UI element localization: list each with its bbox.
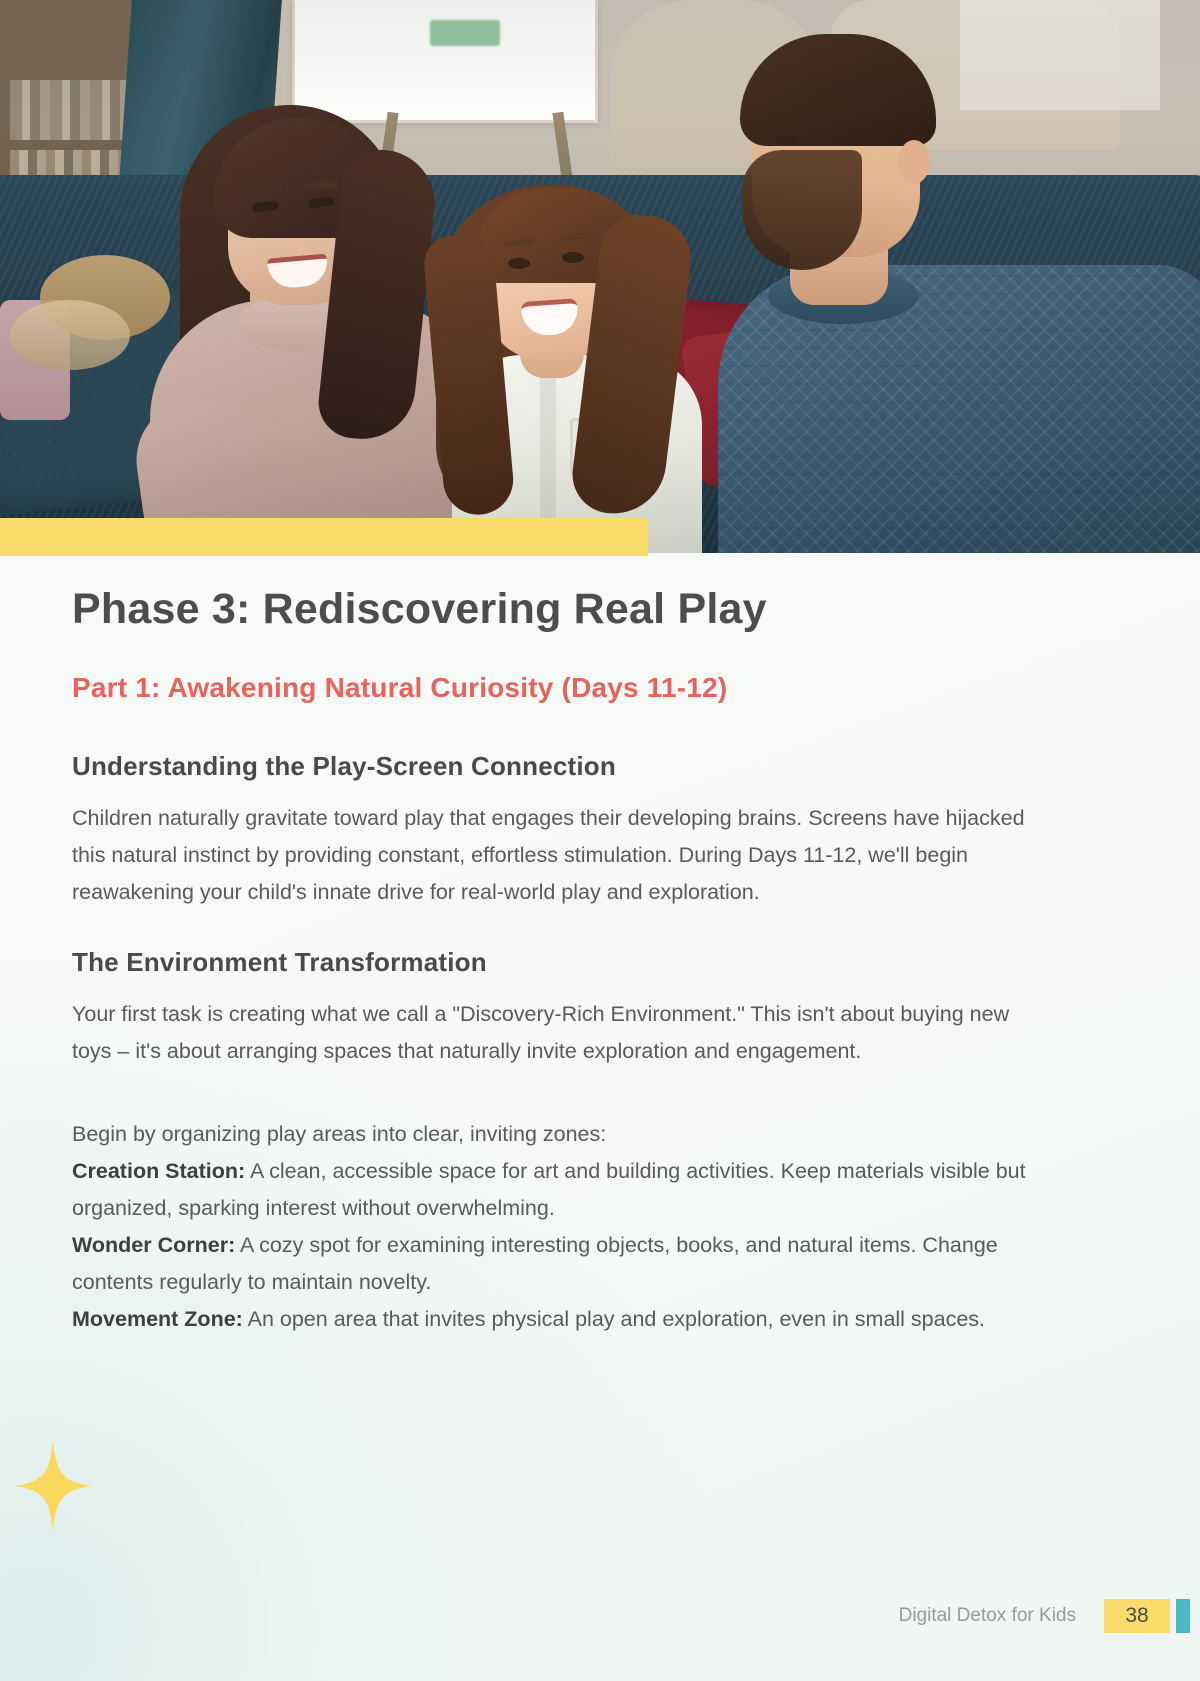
footer-teal-tab	[1176, 1599, 1190, 1633]
zone-label-wonder-corner: Wonder Corner:	[72, 1233, 235, 1257]
part-title: Part 1: Awakening Natural Curiosity (Day…	[72, 671, 1052, 705]
page-root: Phase 3: Rediscovering Real Play Part 1:…	[0, 0, 1200, 1681]
zone-item-movement-zone: Movement Zone: An open area that invites…	[72, 1301, 1052, 1338]
section-body-environment: Your first task is creating what we call…	[72, 996, 1052, 1070]
page-number-badge: 38	[1104, 1599, 1170, 1633]
zones-intro: Begin by organizing play areas into clea…	[72, 1116, 1052, 1153]
zone-item-wonder-corner: Wonder Corner: A cozy spot for examining…	[72, 1227, 1052, 1301]
paragraph-spacer	[72, 1070, 1052, 1116]
hero-vignette	[0, 0, 1200, 553]
section-heading-environment: The Environment Transformation	[72, 947, 1052, 978]
section-heading-understanding: Understanding the Play-Screen Connection	[72, 751, 1052, 782]
sparkle-icon	[14, 1440, 92, 1532]
page-title: Phase 3: Rediscovering Real Play	[72, 586, 1052, 633]
zone-label-creation-station: Creation Station:	[72, 1159, 245, 1183]
hero-scene	[0, 0, 1200, 553]
yellow-accent-bar	[0, 518, 648, 556]
zone-text-movement-zone: An open area that invites physical play …	[243, 1307, 985, 1331]
zone-list: Begin by organizing play areas into clea…	[72, 1116, 1052, 1338]
zone-item-creation-station: Creation Station: A clean, accessible sp…	[72, 1153, 1052, 1227]
zone-label-movement-zone: Movement Zone:	[72, 1307, 243, 1331]
hero-photo	[0, 0, 1200, 553]
page-footer: Digital Detox for Kids 38	[0, 1596, 1200, 1636]
section-body-understanding: Children naturally gravitate toward play…	[72, 800, 1052, 911]
footer-book-title: Digital Detox for Kids	[899, 1605, 1076, 1627]
content-area: Phase 3: Rediscovering Real Play Part 1:…	[72, 586, 1052, 1338]
